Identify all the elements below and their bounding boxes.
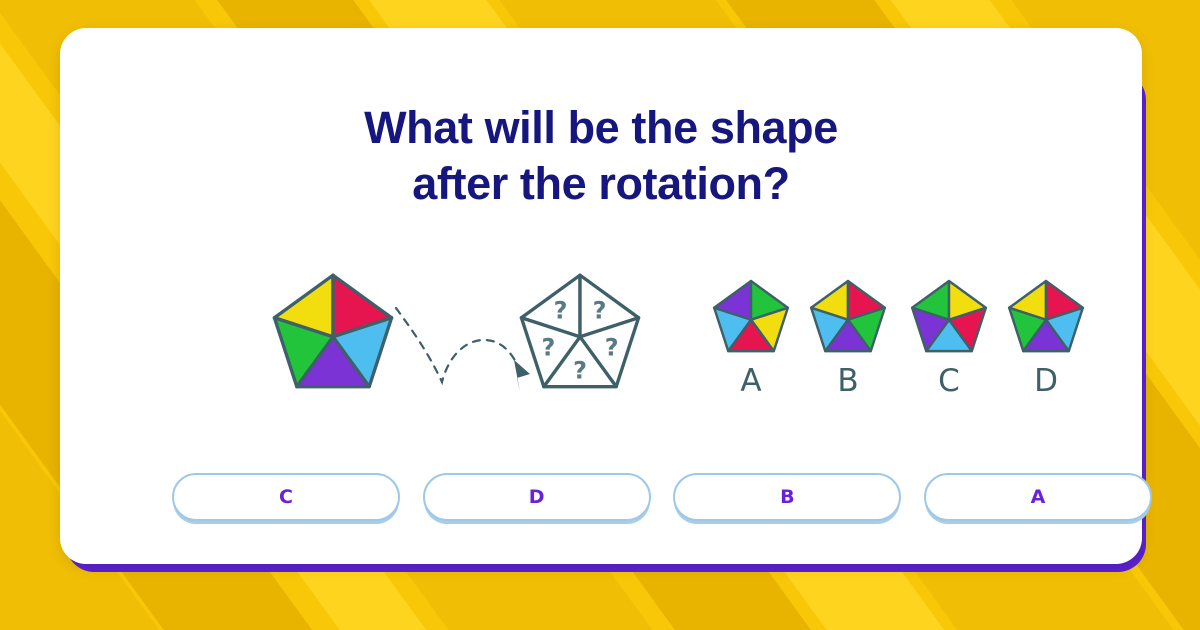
answer-button-4[interactable]: A bbox=[924, 473, 1152, 521]
title-line-2: after the rotation? bbox=[60, 156, 1142, 212]
answer-button-3[interactable]: B bbox=[673, 473, 901, 521]
question-mark-glyph: ? bbox=[593, 296, 607, 324]
option-c[interactable]: C bbox=[903, 274, 995, 397]
question-mark-glyph: ? bbox=[605, 333, 619, 361]
option-b-shape bbox=[802, 274, 894, 362]
puzzle-illustration: ????? A B C D bbox=[60, 256, 1142, 431]
option-b-label: B bbox=[802, 366, 894, 397]
page-title: What will be the shape after the rotatio… bbox=[60, 100, 1142, 212]
target-pentagon-with-question-marks: ????? bbox=[510, 264, 650, 404]
option-b-pentagon-graphic bbox=[802, 274, 894, 362]
option-c-label: C bbox=[903, 366, 995, 397]
option-a-pentagon-graphic bbox=[705, 274, 797, 362]
question-card: What will be the shape after the rotatio… bbox=[60, 28, 1142, 564]
question-mark-glyph: ? bbox=[573, 356, 587, 384]
option-a-shape bbox=[705, 274, 797, 362]
source-pentagon-graphic bbox=[258, 264, 408, 404]
answer-button-row: C D B A bbox=[172, 473, 1152, 525]
question-mark-glyph: ? bbox=[541, 333, 555, 361]
option-d-label: D bbox=[1000, 366, 1092, 397]
option-a[interactable]: A bbox=[705, 274, 797, 397]
option-b[interactable]: B bbox=[802, 274, 894, 397]
option-a-label: A bbox=[705, 366, 797, 397]
option-c-pentagon-graphic bbox=[903, 274, 995, 362]
answer-button-2[interactable]: D bbox=[423, 473, 651, 521]
arrow-dashed-path bbox=[396, 308, 520, 382]
title-line-1: What will be the shape bbox=[60, 100, 1142, 156]
option-c-shape bbox=[903, 274, 995, 362]
option-d[interactable]: D bbox=[1000, 274, 1092, 397]
source-pentagon bbox=[258, 264, 408, 404]
option-d-pentagon-graphic bbox=[1000, 274, 1092, 362]
option-d-shape bbox=[1000, 274, 1092, 362]
answer-button-1[interactable]: C bbox=[172, 473, 400, 521]
question-mark-glyph: ? bbox=[554, 296, 568, 324]
target-pentagon-graphic: ????? bbox=[510, 264, 650, 404]
